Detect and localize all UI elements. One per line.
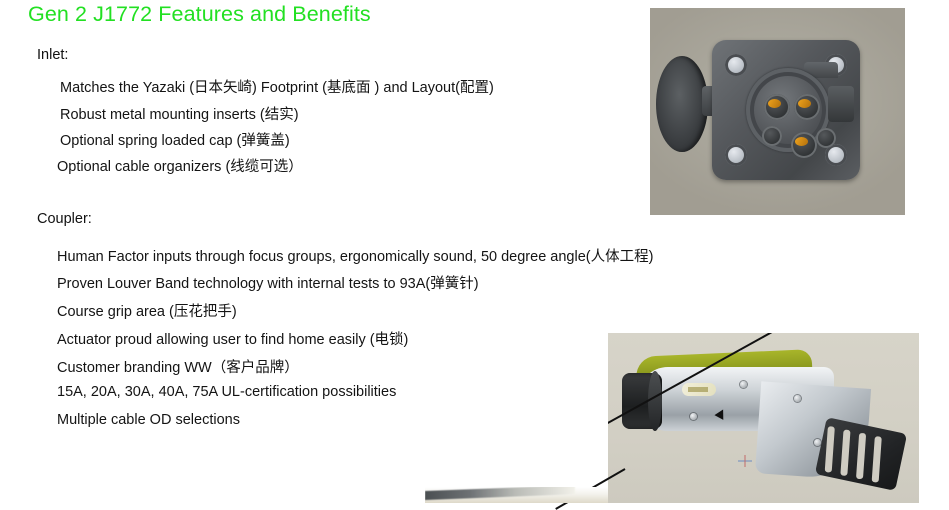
- bullet-coupler-1: Human Factor inputs through focus groups…: [57, 245, 653, 266]
- coupler-screw: [690, 413, 697, 420]
- coupler-origin-axis-marker: [738, 455, 752, 467]
- bullet-inlet-4: Optional cable organizers (线缆可选）: [57, 155, 303, 176]
- coupler-branding-label: [682, 383, 716, 396]
- inlet-bolt-hole: [725, 144, 747, 166]
- bullet-coupler-5: Customer branding WW（客户品牌）: [57, 356, 299, 377]
- bullet-inlet-2: Robust metal mounting inserts (结实): [60, 103, 299, 124]
- coupler-screw: [740, 381, 747, 388]
- inlet-cap-part: [656, 56, 708, 152]
- coupler-screw: [794, 395, 801, 402]
- bottom-image-highlight: [425, 487, 575, 500]
- bottom-cropped-image: [425, 487, 608, 503]
- bullet-inlet-3: Optional spring loaded cap (弹簧盖): [60, 129, 290, 150]
- inlet-pin: [816, 128, 836, 148]
- coupler-screw: [814, 439, 821, 446]
- bullet-coupler-7: Multiple cable OD selections: [57, 412, 240, 428]
- inlet-pin: [762, 126, 782, 146]
- inlet-bolt-hole: [725, 54, 747, 76]
- inlet-pin: [794, 94, 820, 120]
- j1772-inlet-image: [650, 8, 905, 215]
- j1772-coupler-image: [608, 333, 919, 503]
- bullet-coupler-2: Proven Louver Band technology with inter…: [57, 272, 479, 293]
- bullet-coupler-3: Course grip area (压花把手): [57, 300, 237, 321]
- inlet-pin: [791, 132, 817, 158]
- section-heading-inlet: Inlet:: [37, 47, 68, 63]
- bullet-inlet-1: Matches the Yazaki (日本矢崎) Footprint (基底面…: [60, 76, 494, 97]
- inlet-side-latch-part: [828, 86, 854, 122]
- page-title: Gen 2 J1772 Features and Benefits: [28, 1, 371, 27]
- coupler-cable-boot-part: [815, 417, 907, 491]
- coupler-rear-collar-part: [622, 373, 662, 429]
- bullet-coupler-6: 15A, 20A, 30A, 40A, 75A UL-certification…: [57, 384, 396, 400]
- inlet-pin: [764, 94, 790, 120]
- section-heading-coupler: Coupler:: [37, 211, 92, 227]
- slide-canvas: Gen 2 J1772 Features and Benefits Inlet:…: [0, 0, 949, 503]
- bullet-coupler-4: Actuator proud allowing user to find hom…: [57, 328, 408, 349]
